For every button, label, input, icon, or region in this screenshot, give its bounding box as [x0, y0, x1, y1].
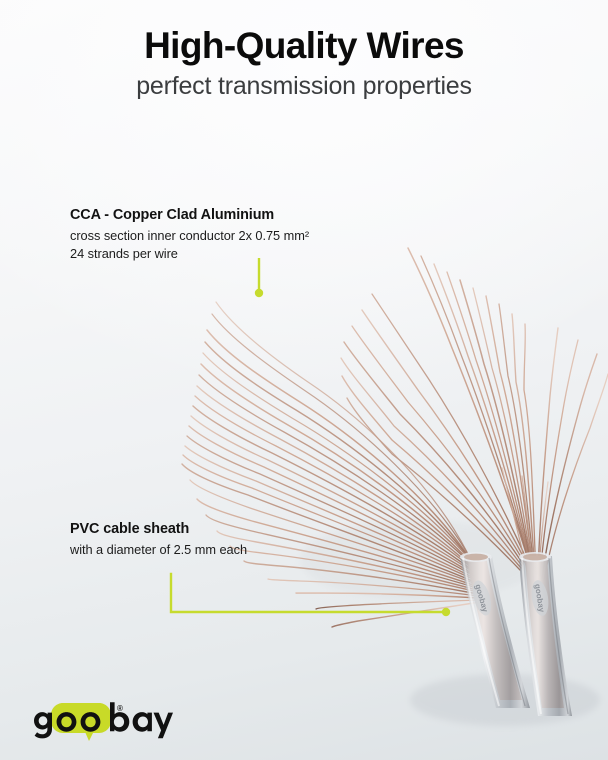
leader-cca: [255, 258, 263, 297]
leader-lines: [0, 0, 608, 760]
callout-pvc-title: PVC cable sheath: [70, 521, 247, 537]
registered-trademark-mark: ®: [117, 704, 123, 713]
leader-pvc: [171, 574, 450, 616]
callout-pvc: PVC cable sheath with a diameter of 2.5 …: [70, 521, 247, 559]
callout-pvc-line-1: with a diameter of 2.5 mm each: [70, 541, 247, 559]
callout-cca-line-1: cross section inner conductor 2x 0.75 mm…: [70, 227, 309, 245]
goobay-logo: [33, 700, 173, 742]
infographic-page: goobay goobay Hig: [0, 0, 608, 760]
callout-cca: CCA - Copper Clad Aluminium cross sectio…: [70, 207, 309, 263]
callout-cca-line-2: 24 strands per wire: [70, 245, 309, 263]
page-title: High-Quality Wires: [0, 26, 608, 66]
page-subtitle: perfect transmission properties: [0, 72, 608, 101]
callout-cca-title: CCA - Copper Clad Aluminium: [70, 207, 309, 223]
header: High-Quality Wires perfect transmission …: [0, 26, 608, 101]
